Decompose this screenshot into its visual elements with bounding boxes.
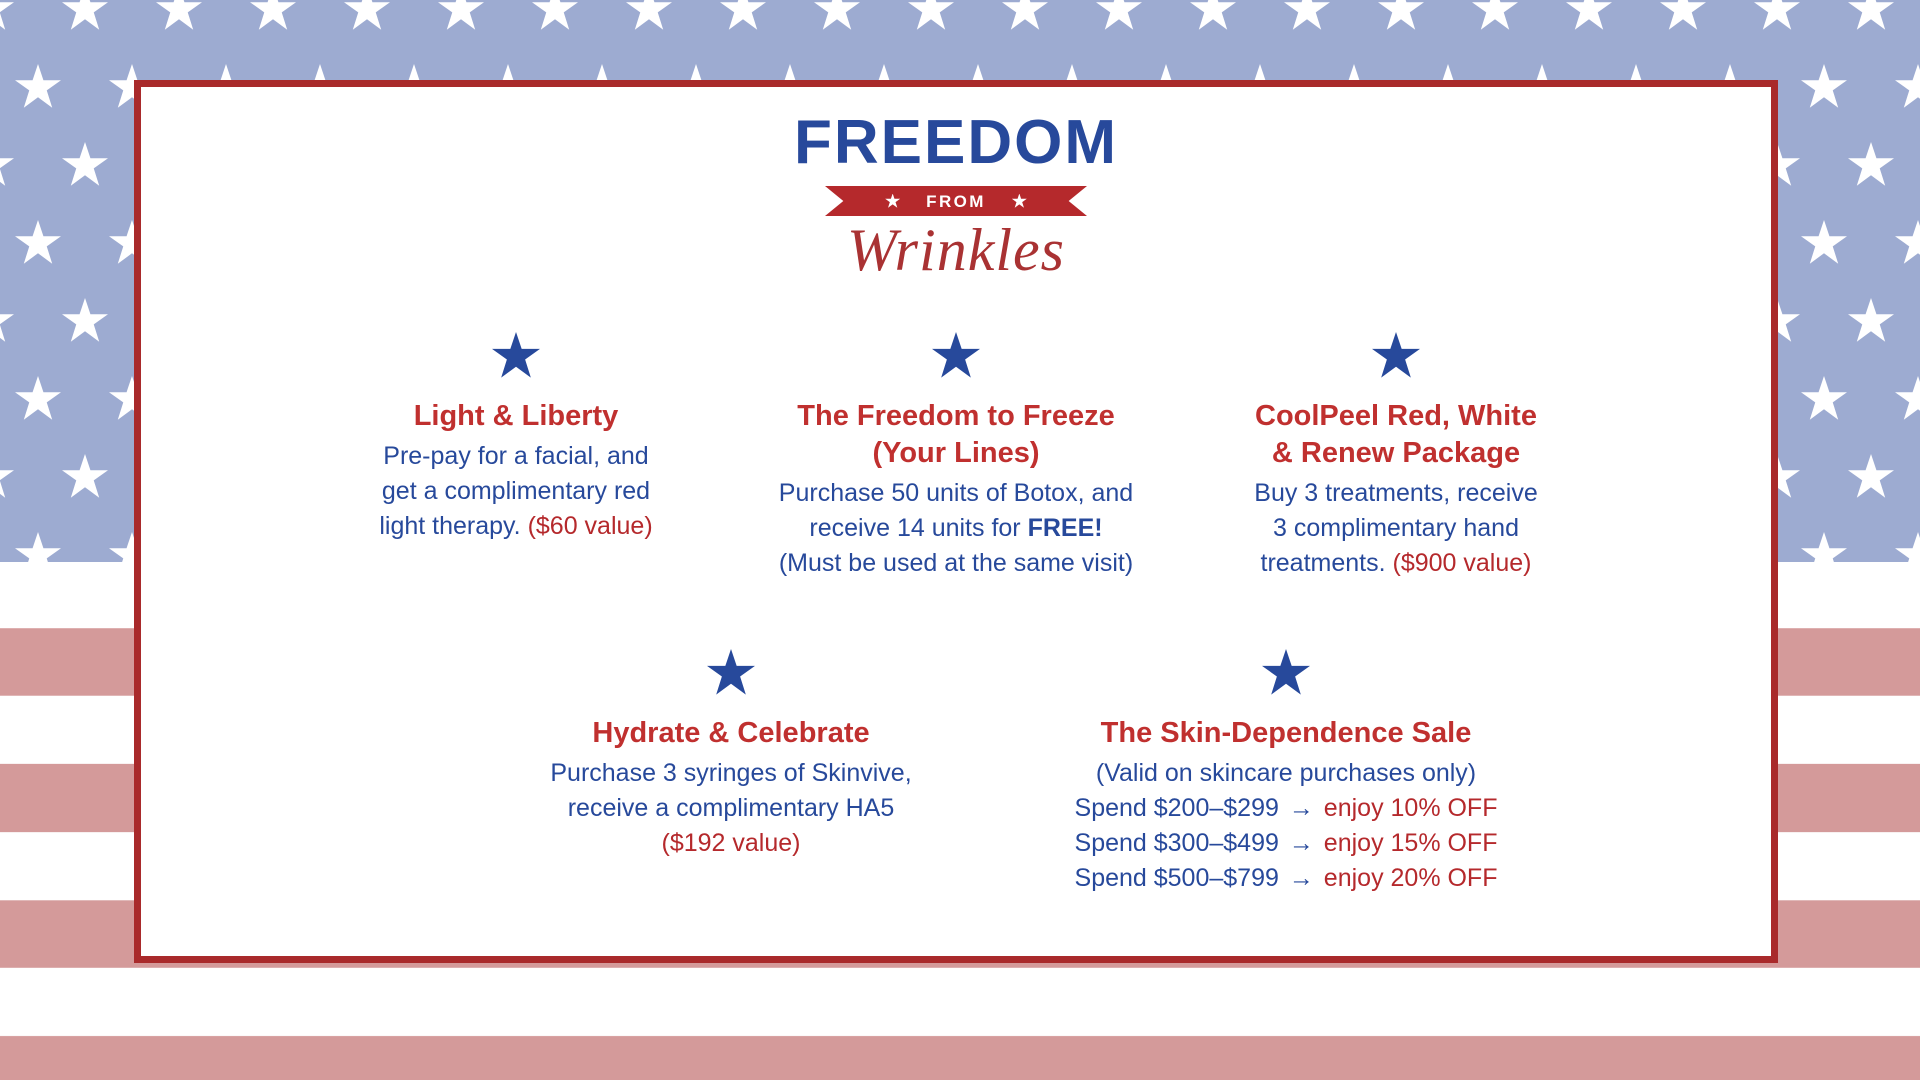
- star-icon: [1262, 649, 1310, 697]
- offer-body-segment: ($900 value): [1393, 549, 1532, 577]
- background-star-icon: [1190, 0, 1236, 32]
- offer-body-segment: receive a complimentary HA5: [568, 794, 895, 822]
- background-star-icon: [156, 0, 202, 32]
- background-star-icon: [15, 376, 61, 422]
- offer-body-segment: Purchase 3 syringes of Skinvive,: [550, 759, 911, 787]
- background-star-icon: [1472, 0, 1518, 32]
- discount-tier-row: Spend $200–$299 → enjoy 10% OFF: [1036, 791, 1536, 826]
- ribbon-label-from: FROM: [926, 193, 986, 210]
- background-star-icon: [1660, 0, 1706, 32]
- offer-freedom-to-freeze: The Freedom to Freeze (Your Lines) Purch…: [721, 332, 1191, 581]
- tier-spend-range: Spend $500–$799: [1075, 864, 1279, 892]
- logo-title-freedom: FREEDOM: [141, 112, 1771, 174]
- background-star-icon: [532, 0, 578, 32]
- offer-body-segment: 3 complimentary hand: [1273, 514, 1519, 542]
- offer-body-line: Purchase 3 syringes of Skinvive,: [506, 756, 956, 791]
- star-icon: [707, 649, 755, 697]
- tier-spend-range: Spend $300–$499: [1075, 829, 1279, 857]
- logo-ribbon: FROM: [825, 186, 1087, 216]
- background-star-icon: [1378, 0, 1424, 32]
- offer-title: CoolPeel Red, White & Renew Package: [1206, 398, 1586, 472]
- background-star-icon: [62, 454, 108, 500]
- offer-body: Pre-pay for a facial, andget a complimen…: [326, 439, 706, 544]
- ribbon-star-left-icon: [885, 194, 900, 209]
- background-star-icon: [1895, 532, 1920, 562]
- discount-tier-row: Spend $300–$499 → enjoy 15% OFF: [1036, 826, 1536, 861]
- offer-body-line: ($192 value): [506, 826, 956, 861]
- background-star-icon: [0, 454, 14, 500]
- background-star-icon: [15, 220, 61, 266]
- offer-body-segment: treatments.: [1261, 549, 1393, 577]
- background-star-icon: [1801, 532, 1847, 562]
- background-star-icon: [62, 0, 108, 32]
- offer-body: Purchase 50 units of Botox, andreceive 1…: [731, 476, 1181, 581]
- offer-body-line: 3 complimentary hand: [1206, 511, 1586, 546]
- offer-body-line: get a complimentary red: [326, 474, 706, 509]
- star-icon: [1372, 332, 1420, 380]
- arrow-right-icon: →: [1279, 794, 1324, 822]
- offer-body-line: Purchase 50 units of Botox, and: [731, 476, 1181, 511]
- background-star-icon: [62, 142, 108, 188]
- offer-body-segment: get a complimentary red: [382, 477, 650, 505]
- offer-coolpeel-package: CoolPeel Red, White & Renew Package Buy …: [1196, 332, 1596, 581]
- tier-discount-value: enjoy 20% OFF: [1324, 864, 1498, 892]
- background-star-icon: [1566, 0, 1612, 32]
- offer-title: The Freedom to Freeze (Your Lines): [731, 398, 1181, 472]
- logo-script-wrinkles: Wrinkles: [141, 220, 1771, 280]
- offer-title: Light & Liberty: [326, 398, 706, 435]
- background-star-icon: [1801, 376, 1847, 422]
- background-star-icon: [720, 0, 766, 32]
- background-star-icon: [1848, 454, 1894, 500]
- star-icon: [932, 332, 980, 380]
- star-icon: [492, 332, 540, 380]
- offers-row-bottom: Hydrate & Celebrate Purchase 3 syringes …: [141, 649, 1771, 896]
- background-star-icon: [1754, 0, 1800, 32]
- background-star-icon: [1284, 0, 1330, 32]
- offer-body-line: (Must be used at the same visit): [731, 546, 1181, 581]
- background-star-icon: [814, 0, 860, 32]
- offer-body-segment: ($192 value): [662, 829, 801, 857]
- background-star-icon: [0, 298, 14, 344]
- background-star-icon: [0, 142, 14, 188]
- background-star-icon: [1895, 64, 1920, 110]
- offer-body-segment: ($60 value): [528, 512, 653, 540]
- offer-light-and-liberty: Light & Liberty Pre-pay for a facial, an…: [316, 332, 716, 581]
- offer-body: Buy 3 treatments, receive3 complimentary…: [1206, 476, 1586, 581]
- tier-spend-range: Spend $200–$299: [1075, 794, 1279, 822]
- offer-body-segment: FREE!: [1028, 514, 1103, 542]
- background-star-icon: [0, 0, 14, 32]
- promotional-poster: FREEDOM FROM Wrinkles Light & Liberty Pr…: [0, 0, 1920, 1080]
- discount-tier-list: Spend $200–$299 → enjoy 10% OFFSpend $30…: [1036, 791, 1536, 896]
- offer-subtitle: (Valid on skincare purchases only): [1036, 756, 1536, 791]
- offer-title: The Skin-Dependence Sale: [1036, 715, 1536, 752]
- brand-logo: FREEDOM FROM Wrinkles: [141, 112, 1771, 280]
- ribbon-banner: FROM: [825, 186, 1087, 216]
- offer-body-line: receive a complimentary HA5: [506, 791, 956, 826]
- background-star-icon: [1801, 64, 1847, 110]
- offer-body-line: Pre-pay for a facial, and: [326, 439, 706, 474]
- ribbon-star-right-icon: [1012, 194, 1027, 209]
- background-star-icon: [1096, 0, 1142, 32]
- background-star-icon: [1895, 376, 1920, 422]
- background-star-icon: [908, 0, 954, 32]
- background-star-icon: [1848, 142, 1894, 188]
- background-star-icon: [1002, 0, 1048, 32]
- offer-body-segment: Purchase 50 units of Botox, and: [779, 479, 1133, 507]
- offer-body-segment: light therapy.: [379, 512, 527, 540]
- background-star-icon: [15, 64, 61, 110]
- offer-hydrate-and-celebrate: Hydrate & Celebrate Purchase 3 syringes …: [496, 649, 966, 896]
- offer-body-segment: Buy 3 treatments, receive: [1254, 479, 1537, 507]
- background-star-icon: [15, 532, 61, 562]
- background-star-icon: [438, 0, 484, 32]
- background-star-icon: [1848, 298, 1894, 344]
- offer-skin-dependence-sale: The Skin-Dependence Sale (Valid on skinc…: [1026, 649, 1546, 896]
- offer-body-line: treatments. ($900 value): [1206, 546, 1586, 581]
- offer-card: FREEDOM FROM Wrinkles Light & Liberty Pr…: [134, 80, 1778, 963]
- offer-title: Hydrate & Celebrate: [506, 715, 956, 752]
- background-star-icon: [250, 0, 296, 32]
- offer-body-line: light therapy. ($60 value): [326, 509, 706, 544]
- discount-tier-row: Spend $500–$799 → enjoy 20% OFF: [1036, 861, 1536, 896]
- background-star-icon: [1848, 0, 1894, 32]
- arrow-right-icon: →: [1279, 864, 1324, 892]
- background-star-icon: [1801, 220, 1847, 266]
- background-star-icon: [344, 0, 390, 32]
- background-star-icon: [1895, 220, 1920, 266]
- offers-row-top: Light & Liberty Pre-pay for a facial, an…: [141, 332, 1771, 581]
- offer-body-segment: Pre-pay for a facial, and: [383, 442, 648, 470]
- tier-discount-value: enjoy 15% OFF: [1324, 829, 1498, 857]
- offer-body-line: receive 14 units for FREE!: [731, 511, 1181, 546]
- offer-body-segment: receive 14 units for: [809, 514, 1027, 542]
- background-star-icon: [626, 0, 672, 32]
- offer-body-line: Buy 3 treatments, receive: [1206, 476, 1586, 511]
- arrow-right-icon: →: [1279, 829, 1324, 857]
- offer-body-segment: (Must be used at the same visit): [779, 549, 1133, 577]
- offer-body: Purchase 3 syringes of Skinvive,receive …: [506, 756, 956, 861]
- background-star-icon: [62, 298, 108, 344]
- tier-discount-value: enjoy 10% OFF: [1324, 794, 1498, 822]
